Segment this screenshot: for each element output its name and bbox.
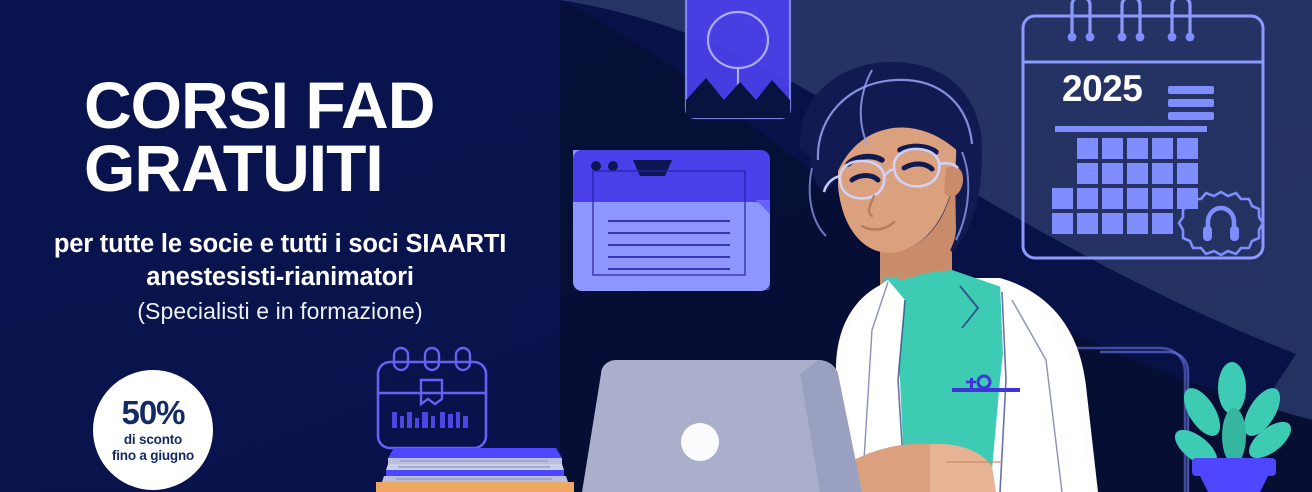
discount-percent: 50%: [121, 396, 184, 429]
calendar-year: 2025: [1062, 68, 1142, 110]
laptop-icon: [582, 360, 862, 492]
discount-label-1: di sconto: [124, 432, 182, 448]
book-stack-icon: [376, 448, 574, 492]
discount-badge: 50% di sconto fino a giugno: [93, 370, 213, 490]
promo-banner: CORSI FAD GRATUITI per tutte le socie e …: [0, 0, 1312, 492]
potted-plant-icon: [1169, 362, 1297, 492]
discount-label-2: fino a giugno: [112, 448, 194, 464]
